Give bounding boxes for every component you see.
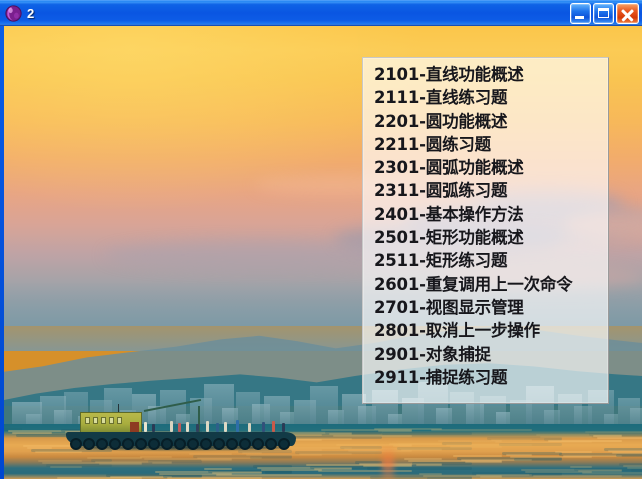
boat-cabin <box>80 412 142 434</box>
lesson-item-2911[interactable]: 2911-捕捉练习题 <box>374 366 608 389</box>
close-button[interactable] <box>616 3 639 24</box>
lesson-item-2601[interactable]: 2601-重复调用上一次命令 <box>374 273 608 296</box>
caption-buttons <box>570 3 639 24</box>
lesson-item-2101[interactable]: 2101-直线功能概述 <box>374 63 608 86</box>
passenger <box>152 424 155 432</box>
lesson-list: 2101-直线功能概述2111-直线练习题2201-圆功能概述2211-圆练习题… <box>363 58 608 389</box>
water-streak <box>299 453 352 455</box>
water-streak <box>416 464 442 466</box>
water-streak <box>401 449 442 451</box>
water-streak <box>597 437 642 439</box>
tugboat <box>66 404 296 452</box>
water-streak <box>563 455 622 457</box>
water-streak <box>216 474 322 476</box>
lesson-item-2511[interactable]: 2511-矩形练习题 <box>374 249 608 272</box>
passenger <box>272 421 275 432</box>
tire-fender <box>70 438 82 450</box>
sun-reflection <box>382 444 394 479</box>
tire-fender <box>109 438 121 450</box>
water-streak <box>548 440 622 442</box>
passenger <box>282 423 285 432</box>
lesson-item-2301[interactable]: 2301-圆弧功能概述 <box>374 156 608 179</box>
tire-fender <box>122 438 134 450</box>
water-streak <box>465 461 502 463</box>
water-streak <box>480 476 502 478</box>
window-title: 2 <box>27 5 34 22</box>
water-streak <box>152 462 172 464</box>
maximize-icon <box>598 8 609 18</box>
water-streak <box>514 458 562 461</box>
passenger <box>196 424 199 432</box>
passenger <box>170 421 173 432</box>
passenger <box>186 422 189 432</box>
tire-fender <box>226 438 238 450</box>
lesson-item-2201[interactable]: 2201-圆功能概述 <box>374 110 608 133</box>
tire-fender <box>200 438 212 450</box>
passenger <box>224 422 227 432</box>
lesson-index-panel[interactable]: 2101-直线功能概述2111-直线练习题2201-圆功能概述2211-圆练习题… <box>362 57 609 404</box>
water-streak <box>616 454 642 457</box>
passenger <box>206 421 209 432</box>
lesson-item-2501[interactable]: 2501-矩形功能概述 <box>374 226 608 249</box>
tire-fender <box>83 438 95 450</box>
passenger <box>216 423 219 432</box>
tire-fender <box>239 438 251 450</box>
passenger <box>248 423 251 432</box>
passenger <box>262 422 265 432</box>
passenger <box>236 420 239 432</box>
maximize-button[interactable] <box>593 3 614 24</box>
passenger <box>144 422 147 432</box>
tire-fender <box>96 438 108 450</box>
minimize-button[interactable] <box>570 3 591 24</box>
water-streak <box>333 435 412 437</box>
water-streak <box>250 456 292 459</box>
tire-fender <box>174 438 186 450</box>
tire-fender <box>148 438 160 450</box>
application-window: 2 <box>0 0 642 479</box>
water-streak <box>533 475 622 477</box>
water-streak <box>201 459 232 461</box>
water-streak <box>499 443 562 446</box>
water-streak <box>99 463 142 465</box>
water-streak <box>318 470 412 472</box>
media-sphere-icon <box>5 5 22 22</box>
tire-fender <box>161 438 173 450</box>
tire-fender <box>213 438 225 450</box>
lesson-item-2111[interactable]: 2111-直线练习题 <box>374 86 608 109</box>
title-bar[interactable]: 2 <box>0 0 642 26</box>
tire-fender <box>187 438 199 450</box>
water-streak <box>450 446 502 448</box>
water-streak <box>431 429 532 431</box>
lesson-item-2311[interactable]: 2311-圆弧练习题 <box>374 179 608 202</box>
tire-fender <box>135 438 147 450</box>
lesson-item-2211[interactable]: 2211-圆练习题 <box>374 133 608 156</box>
lesson-item-2701[interactable]: 2701-视图显示管理 <box>374 296 608 319</box>
minimize-icon <box>575 16 584 19</box>
lesson-item-2801[interactable]: 2801-取消上一步操作 <box>374 319 608 342</box>
tire-fender <box>252 438 264 450</box>
passenger <box>178 423 181 432</box>
water-streak <box>582 472 642 474</box>
tire-fender <box>278 438 290 450</box>
photo-client-area: 2101-直线功能概述2111-直线练习题2201-圆功能概述2211-圆练习题… <box>4 26 642 479</box>
tire-fender <box>265 438 277 450</box>
lesson-item-2901[interactable]: 2901-对象捕捉 <box>374 343 608 366</box>
water-streak <box>50 466 82 468</box>
lesson-item-2401[interactable]: 2401-基本操作方法 <box>374 203 608 226</box>
